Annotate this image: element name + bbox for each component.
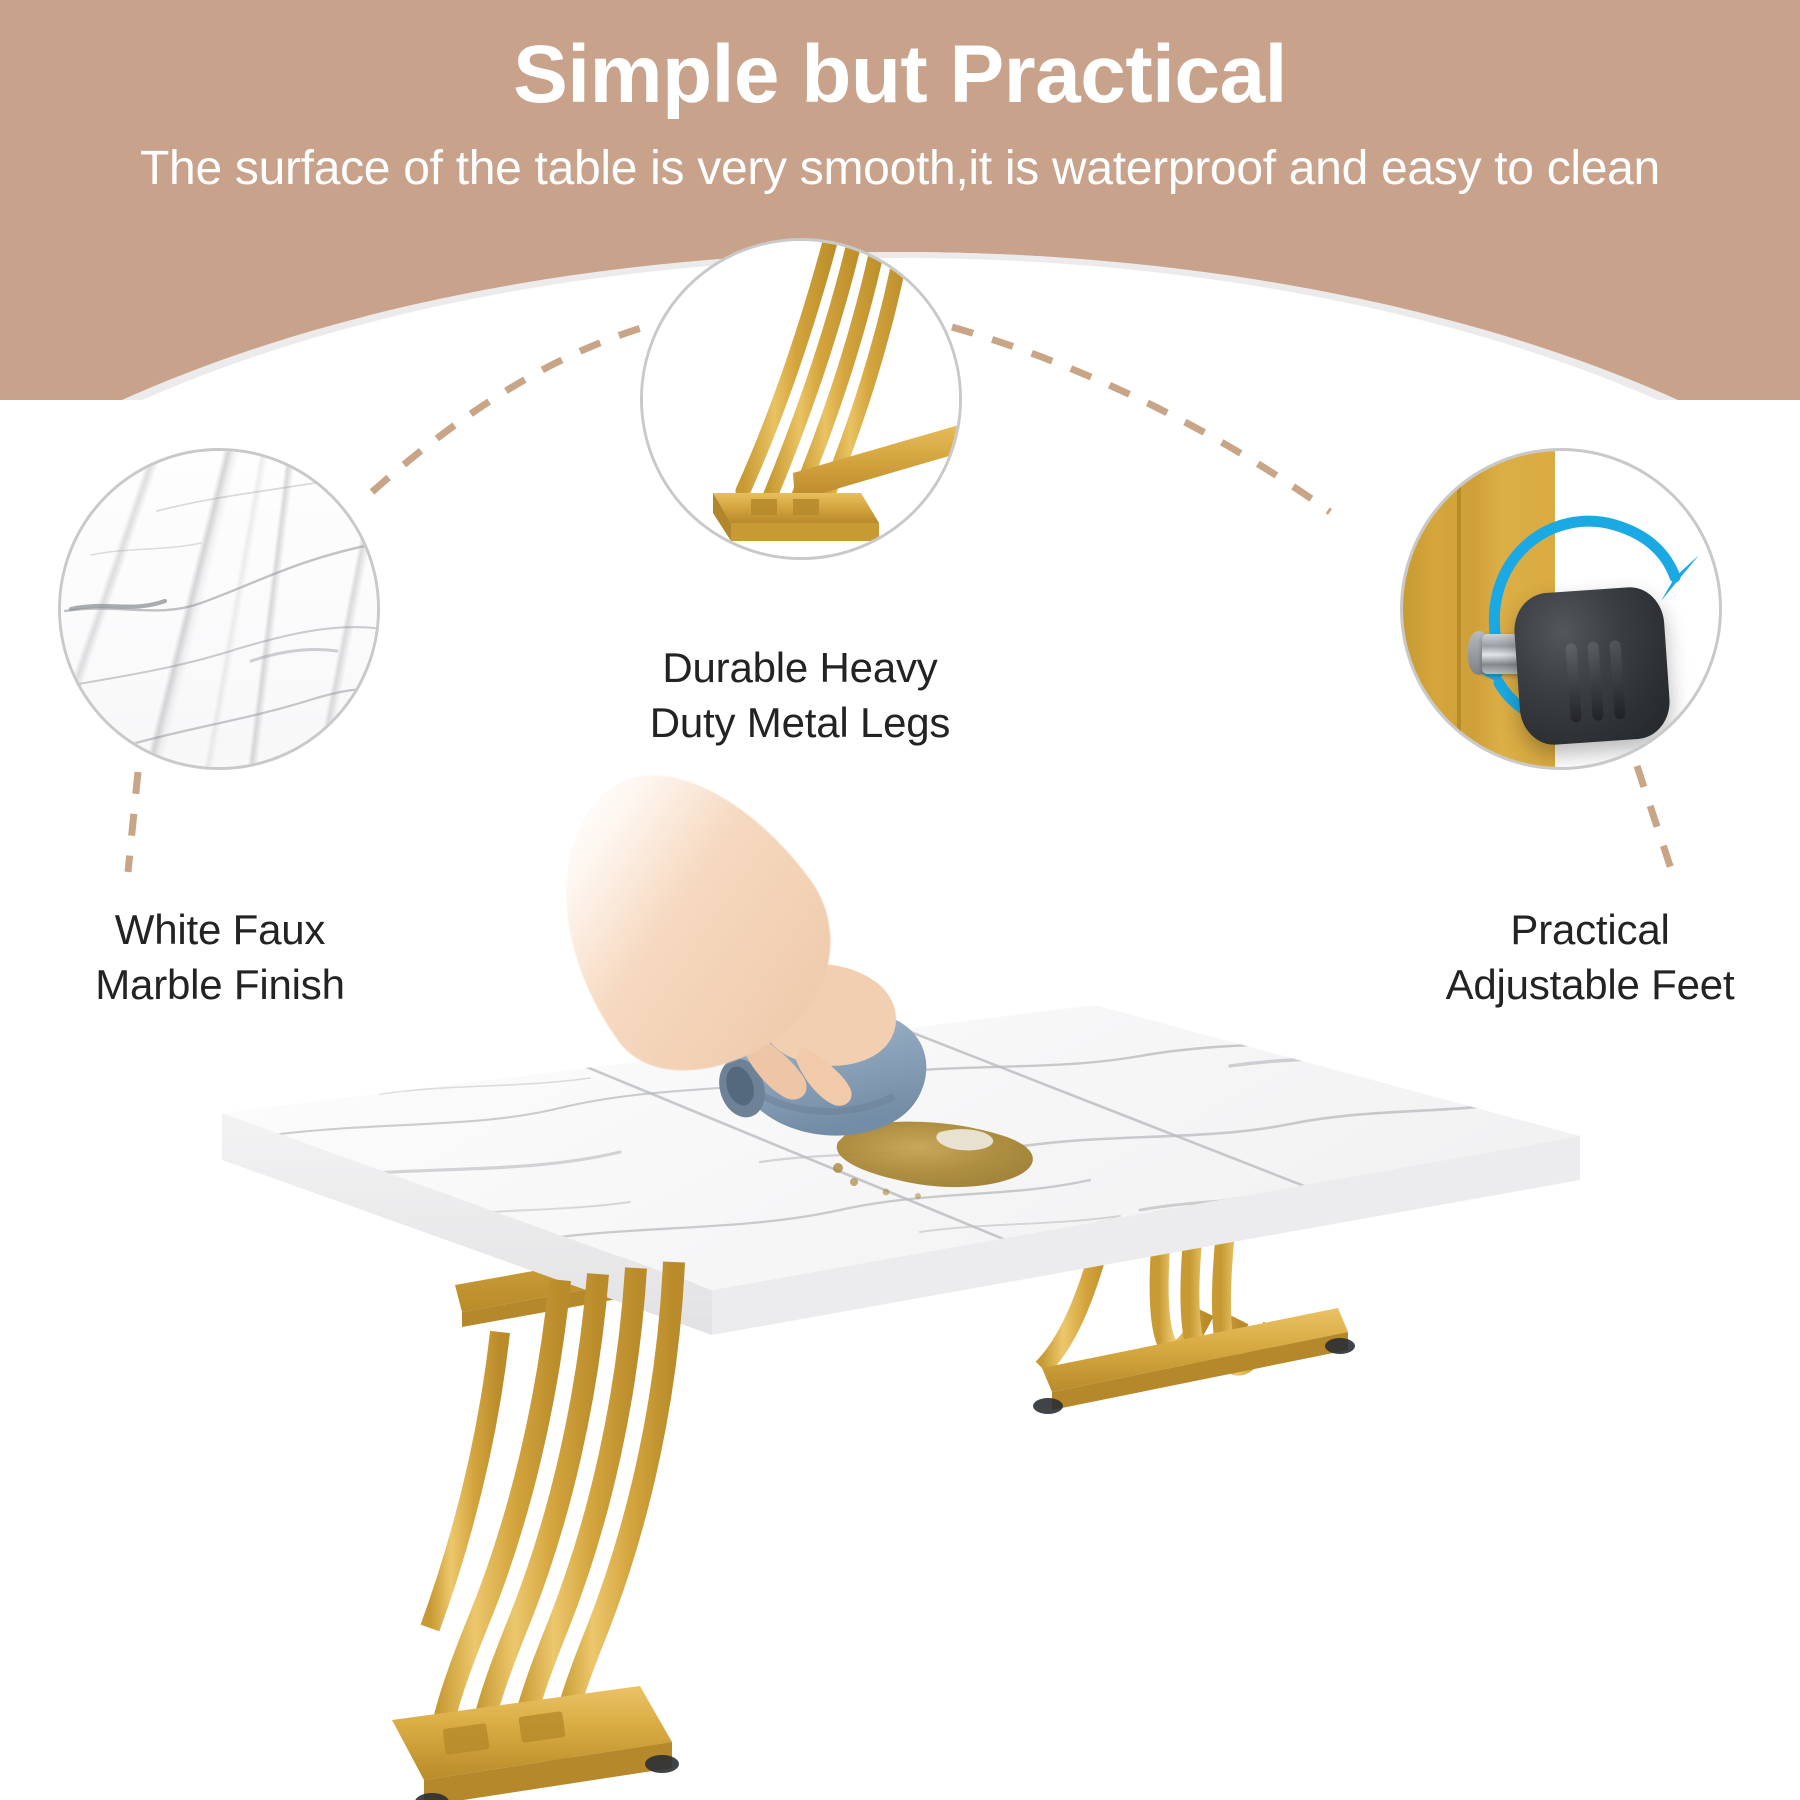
gold-metal-leg-icon [643, 241, 959, 557]
product-illustration [0, 880, 1800, 1800]
adjustable-foot-knob-icon [1512, 585, 1672, 747]
gold-leg-edge [1457, 451, 1461, 767]
marble-vein-overlay [61, 451, 380, 770]
callout-circle-legs[interactable] [640, 238, 962, 560]
dining-table-figure [0, 880, 1800, 1800]
callout-circle-marble[interactable] [58, 448, 380, 770]
callout-circle-foot[interactable] [1400, 448, 1722, 770]
page-subtitle: The surface of the table is very smooth,… [0, 140, 1800, 198]
adjustable-foot-nub [1033, 1398, 1063, 1414]
adjustable-foot-nub [1325, 1338, 1355, 1354]
infographic-page: Simple but Practical The surface of the … [0, 0, 1800, 1800]
page-title: Simple but Practical [0, 30, 1800, 120]
callout-label-legs: Durable Heavy Duty Metal Legs [590, 640, 1010, 751]
table-leg-near [392, 1262, 679, 1800]
